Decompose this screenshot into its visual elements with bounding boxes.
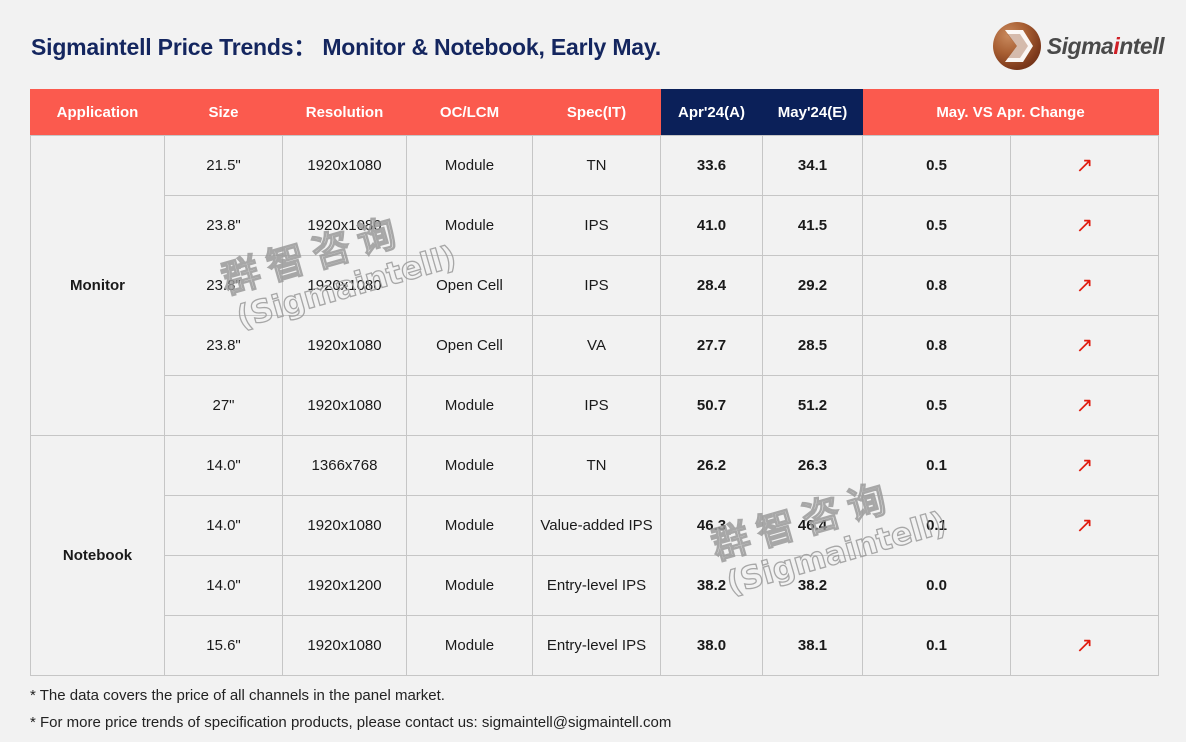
cell-resolution: 1920x1080	[283, 496, 407, 556]
cell-apr-price: 50.7	[661, 376, 763, 436]
cell-apr-price: 38.2	[661, 556, 763, 616]
cell-may-price: 38.1	[763, 616, 863, 676]
arrow-up-right-icon: ↗	[1076, 215, 1094, 236]
cell-size: 14.0"	[165, 496, 283, 556]
cell-spec: Entry-level IPS	[533, 556, 661, 616]
cell-resolution: 1920x1080	[283, 316, 407, 376]
arrow-up-right-icon: ↗	[1076, 515, 1094, 536]
cell-spec: VA	[533, 316, 661, 376]
cell-change-value: 0.0	[863, 556, 1011, 616]
table-row: 15.6"1920x1080ModuleEntry-level IPS38.03…	[31, 616, 1159, 676]
column-header-application[interactable]: Application	[31, 90, 165, 136]
cell-apr-price: 41.0	[661, 196, 763, 256]
cell-may-price: 26.3	[763, 436, 863, 496]
cell-trend-arrow-up: ↗	[1011, 316, 1159, 376]
table-row: 27"1920x1080ModuleIPS50.751.20.5↗	[31, 376, 1159, 436]
cell-change-value: 0.1	[863, 436, 1011, 496]
arrow-up-right-icon: ↗	[1076, 395, 1094, 416]
cell-may-price: 34.1	[763, 136, 863, 196]
cell-resolution: 1920x1080	[283, 376, 407, 436]
cell-size: 21.5"	[165, 136, 283, 196]
cell-may-price: 46.4	[763, 496, 863, 556]
column-header-resolution[interactable]: Resolution	[283, 90, 407, 136]
cell-change-value: 0.8	[863, 256, 1011, 316]
sigmaintell-logo-mark-icon	[993, 22, 1041, 70]
table-row: Monitor21.5"1920x1080ModuleTN33.634.10.5…	[31, 136, 1159, 196]
column-header-may[interactable]: May'24(E)	[763, 90, 863, 136]
cell-size: 14.0"	[165, 556, 283, 616]
table-row: 23.8"1920x1080Open CellVA27.728.50.8↗	[31, 316, 1159, 376]
cell-may-price: 28.5	[763, 316, 863, 376]
table-row: 14.0"1920x1200ModuleEntry-level IPS38.23…	[31, 556, 1159, 616]
cell-trend-arrow-up: ↗	[1011, 436, 1159, 496]
footnote-line-2: * For more price trends of specification…	[30, 709, 671, 736]
cell-may-price: 29.2	[763, 256, 863, 316]
cell-resolution: 1920x1080	[283, 136, 407, 196]
cell-application-notebook: Notebook	[31, 436, 165, 676]
cell-trend-arrow-up: ↗	[1011, 256, 1159, 316]
wordmark-part-1: S	[1047, 33, 1062, 59]
cell-may-price: 51.2	[763, 376, 863, 436]
chevron-arrow-icon	[993, 22, 1041, 70]
cell-trend-arrow-up: ↗	[1011, 196, 1159, 256]
cell-oc-lcm: Module	[407, 496, 533, 556]
cell-oc-lcm: Module	[407, 136, 533, 196]
cell-oc-lcm: Module	[407, 616, 533, 676]
price-trends-table: Application Size Resolution OC/LCM Spec(…	[30, 89, 1159, 676]
cell-trend-none	[1011, 556, 1159, 616]
column-header-spec[interactable]: Spec(IT)	[533, 90, 661, 136]
cell-change-value: 0.5	[863, 136, 1011, 196]
cell-spec: TN	[533, 436, 661, 496]
table-row: Notebook14.0"1366x768ModuleTN26.226.30.1…	[31, 436, 1159, 496]
cell-size: 27"	[165, 376, 283, 436]
cell-apr-price: 33.6	[661, 136, 763, 196]
cell-resolution: 1920x1200	[283, 556, 407, 616]
cell-oc-lcm: Open Cell	[407, 316, 533, 376]
cell-size: 23.8"	[165, 256, 283, 316]
cell-apr-price: 26.2	[661, 436, 763, 496]
cell-resolution: 1366x768	[283, 436, 407, 496]
table-row: 23.8"1920x1080ModuleIPS41.041.50.5↗	[31, 196, 1159, 256]
cell-size: 23.8"	[165, 316, 283, 376]
column-header-apr[interactable]: Apr'24(A)	[661, 90, 763, 136]
cell-apr-price: 38.0	[661, 616, 763, 676]
cell-trend-arrow-up: ↗	[1011, 376, 1159, 436]
cell-trend-arrow-up: ↗	[1011, 616, 1159, 676]
cell-spec: TN	[533, 136, 661, 196]
cell-oc-lcm: Module	[407, 436, 533, 496]
cell-change-value: 0.1	[863, 496, 1011, 556]
page-title: Sigmaintell Price Trends： Monitor & Note…	[31, 28, 661, 62]
cell-spec: IPS	[533, 196, 661, 256]
cell-oc-lcm: Open Cell	[407, 256, 533, 316]
arrow-up-right-icon: ↗	[1076, 275, 1094, 296]
cell-resolution: 1920x1080	[283, 616, 407, 676]
cell-change-value: 0.5	[863, 196, 1011, 256]
cell-spec: IPS	[533, 256, 661, 316]
column-header-size[interactable]: Size	[165, 90, 283, 136]
table-header-row: Application Size Resolution OC/LCM Spec(…	[31, 90, 1159, 136]
page-header: Sigmaintell Price Trends： Monitor & Note…	[0, 0, 1186, 88]
cell-apr-price: 46.3	[661, 496, 763, 556]
cell-size: 14.0"	[165, 436, 283, 496]
cell-spec: IPS	[533, 376, 661, 436]
cell-size: 15.6"	[165, 616, 283, 676]
cell-resolution: 1920x1080	[283, 196, 407, 256]
cell-oc-lcm: Module	[407, 196, 533, 256]
sigmaintell-wordmark: Sigmaintell	[1047, 35, 1164, 58]
footnotes: * The data covers the price of all chann…	[30, 682, 671, 736]
cell-may-price: 41.5	[763, 196, 863, 256]
wordmark-part-3: ntell	[1119, 33, 1164, 59]
footnote-line-1: * The data covers the price of all chann…	[30, 682, 671, 709]
cell-oc-lcm: Module	[407, 556, 533, 616]
arrow-up-right-icon: ↗	[1076, 635, 1094, 656]
table-row: 23.8"1920x1080Open CellIPS28.429.20.8↗	[31, 256, 1159, 316]
arrow-up-right-icon: ↗	[1076, 155, 1094, 176]
cell-apr-price: 27.7	[661, 316, 763, 376]
arrow-up-right-icon: ↗	[1076, 455, 1094, 476]
cell-trend-arrow-up: ↗	[1011, 496, 1159, 556]
cell-application-monitor: Monitor	[31, 136, 165, 436]
table-row: 14.0"1920x1080ModuleValue-added IPS46.34…	[31, 496, 1159, 556]
cell-oc-lcm: Module	[407, 376, 533, 436]
cell-change-value: 0.5	[863, 376, 1011, 436]
cell-spec: Value-added IPS	[533, 496, 661, 556]
column-header-oc-lcm[interactable]: OC/LCM	[407, 90, 533, 136]
cell-apr-price: 28.4	[661, 256, 763, 316]
cell-resolution: 1920x1080	[283, 256, 407, 316]
table-body: Monitor21.5"1920x1080ModuleTN33.634.10.5…	[31, 136, 1159, 676]
cell-trend-arrow-up: ↗	[1011, 136, 1159, 196]
brand-logo: Sigmaintell	[993, 20, 1164, 72]
column-header-change[interactable]: May. VS Apr. Change	[863, 90, 1159, 136]
wordmark-part-2: igma	[1062, 33, 1114, 59]
arrow-up-right-icon: ↗	[1076, 335, 1094, 356]
cell-change-value: 0.1	[863, 616, 1011, 676]
cell-size: 23.8"	[165, 196, 283, 256]
cell-may-price: 38.2	[763, 556, 863, 616]
cell-spec: Entry-level IPS	[533, 616, 661, 676]
cell-change-value: 0.8	[863, 316, 1011, 376]
